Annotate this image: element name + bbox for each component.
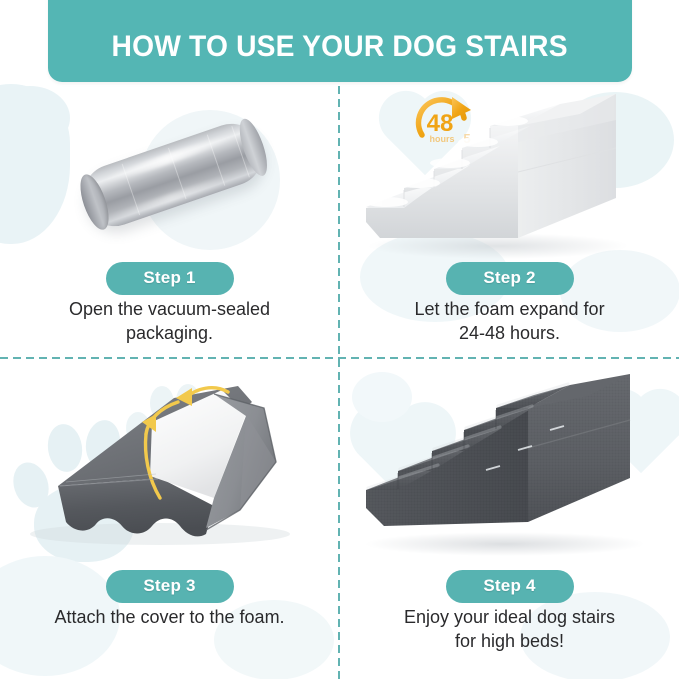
step-panel-1: Step 1 Open the vacuum-sealed packaging. <box>0 86 339 382</box>
white-foam-stairs-illustration: 48 hours 5 <box>340 86 679 264</box>
step-caption-2-line-1: Let the foam expand for <box>352 298 667 322</box>
step-caption-1-line-1: Open the vacuum-sealed <box>12 298 327 322</box>
final-stairs-shape <box>340 358 679 558</box>
header-banner: HOW TO USE YOUR DOG STAIRS <box>48 0 632 82</box>
page-title: HOW TO USE YOUR DOG STAIRS <box>112 32 568 82</box>
steps-grid: Step 1 Open the vacuum-sealed packaging. <box>0 86 679 679</box>
step-panel-3: Step 3 Attach the cover to the foam. <box>0 358 339 679</box>
step-badge-1: Step 1 <box>106 262 234 295</box>
step-caption-3: Attach the cover to the foam. <box>12 606 327 630</box>
infographic-page: HOW TO USE YOUR DOG STAIRS <box>0 0 679 679</box>
step-panel-4: Step 4 Enjoy your ideal dog stairs for h… <box>340 358 679 679</box>
step-badge-3: Step 3 <box>106 570 234 603</box>
step-badge-2: Step 2 <box>446 262 574 295</box>
step-caption-1-line-2: packaging. <box>12 322 327 346</box>
foam-stairs-shape <box>340 86 679 264</box>
step-caption-4: Enjoy your ideal dog stairs for high bed… <box>352 606 667 654</box>
vacuum-sealed-roll-illustration <box>0 86 339 264</box>
step-caption-2: Let the foam expand for 24-48 hours. <box>352 298 667 346</box>
step-caption-4-line-2: for high beds! <box>352 630 667 654</box>
step-panel-2: 48 hours 5 <box>340 86 679 382</box>
step-caption-4-line-1: Enjoy your ideal dog stairs <box>352 606 667 630</box>
step-caption-2-line-2: 24-48 hours. <box>352 322 667 346</box>
cover-shape <box>0 358 339 558</box>
step-badge-4: Step 4 <box>446 570 574 603</box>
step-caption-3-line-1: Attach the cover to the foam. <box>12 606 327 630</box>
step-caption-1: Open the vacuum-sealed packaging. <box>12 298 327 346</box>
cover-over-foam-illustration <box>0 358 339 558</box>
finished-dog-stairs-illustration <box>340 358 679 558</box>
